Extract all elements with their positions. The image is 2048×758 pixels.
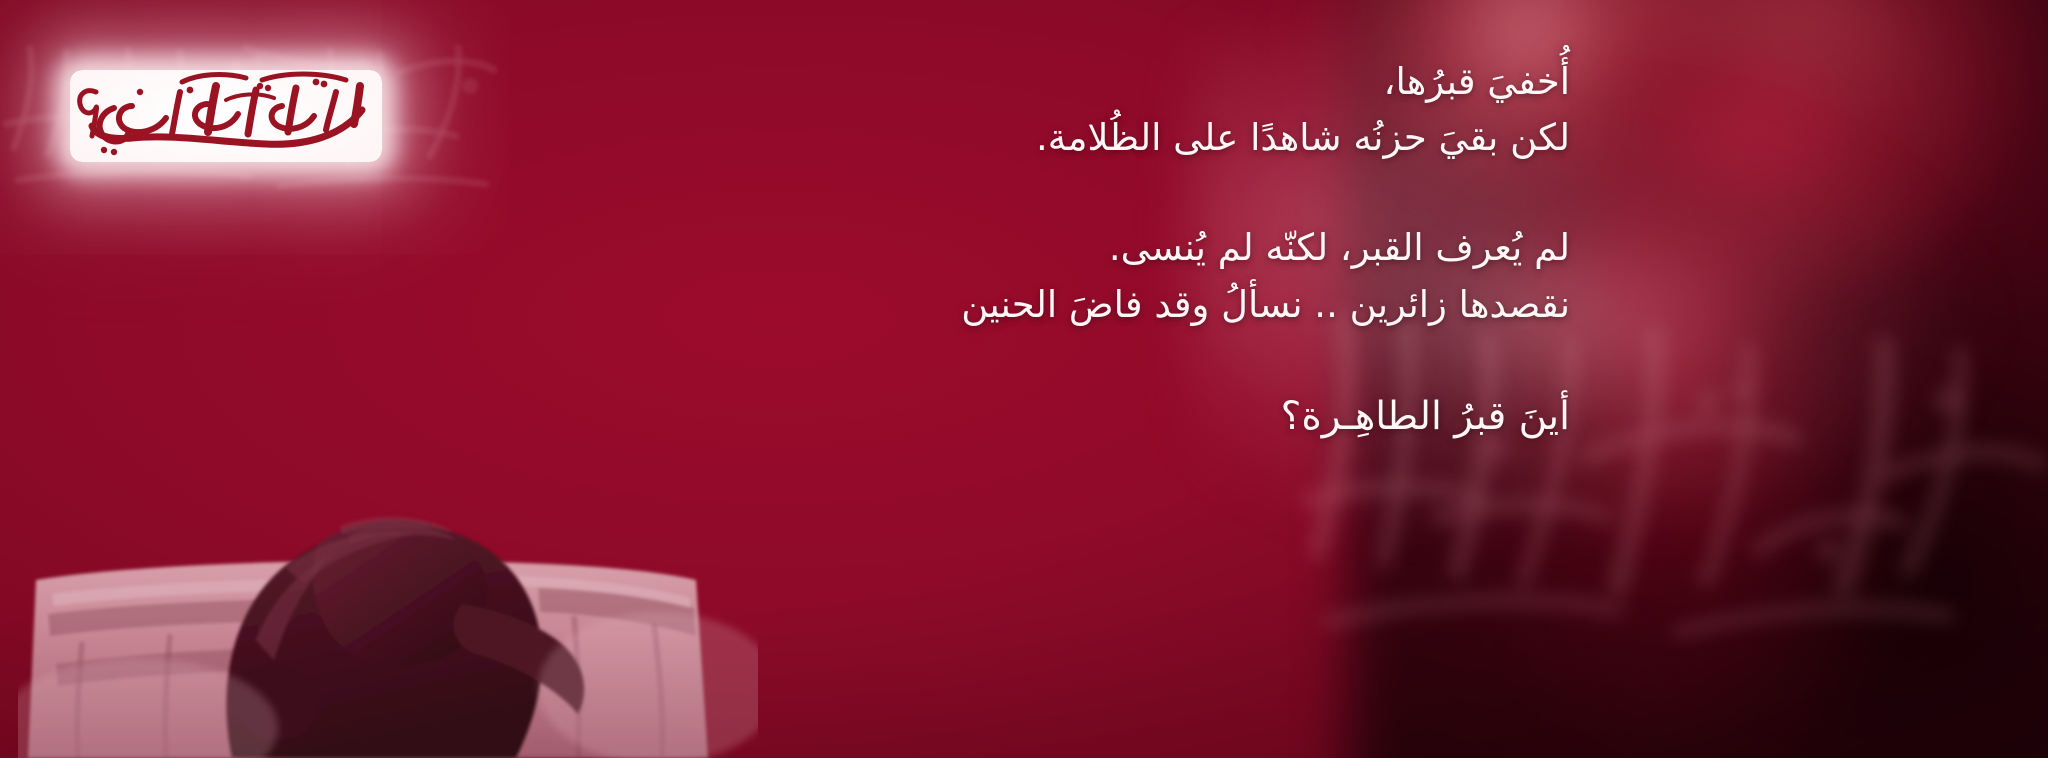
poem-stanza-3: أينَ قبرُ الطاهِـرة؟	[470, 387, 1570, 446]
mourning-figure-illustration	[18, 428, 758, 758]
poem-text-block: أُخفيَ قبرُها، لكن بقيَ حزنُه شاهدًا على…	[470, 54, 1570, 446]
poem-stanza-2: لم يُعرف القبر، لكنّه لم يُنسى. نقصدها ز…	[470, 220, 1570, 332]
poem-closing-question: أينَ قبرُ الطاهِـرة؟	[470, 387, 1570, 446]
badge-calligraphy-script	[70, 70, 382, 162]
poem-line: لكن بقيَ حزنُه شاهدًا على الظُلامة.	[470, 110, 1570, 166]
poem-line: أُخفيَ قبرُها،	[470, 54, 1570, 110]
poem-stanza-1: أُخفيَ قبرُها، لكن بقيَ حزنُه شاهدًا على…	[470, 54, 1570, 166]
banner-image: أُخفيَ قبرُها، لكن بقيَ حزنُه شاهدًا على…	[0, 0, 2048, 758]
logo-badge	[0, 28, 498, 204]
poem-line: نقصدها زائرين .. نسألُ وقد فاضَ الحنين	[470, 277, 1570, 333]
poem-line: لم يُعرف القبر، لكنّه لم يُنسى.	[470, 220, 1570, 276]
